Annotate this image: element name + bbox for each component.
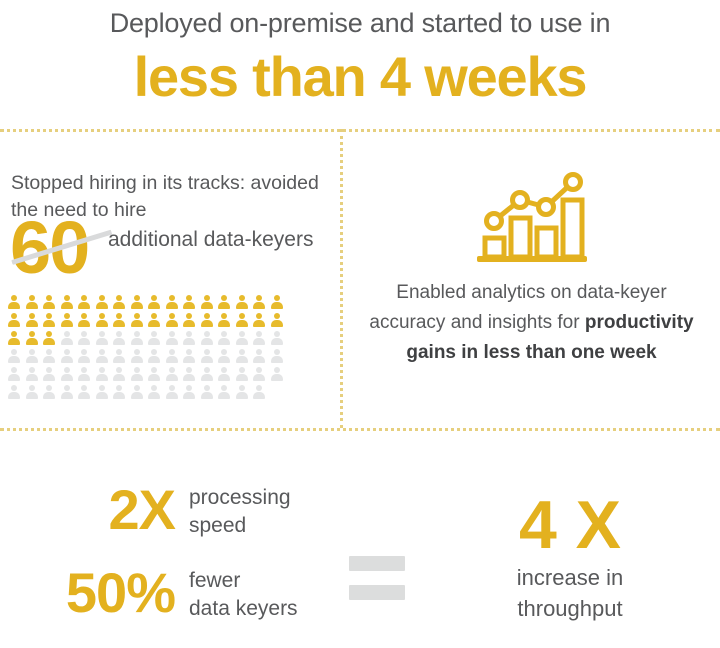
person-icon <box>7 312 21 328</box>
person-icon <box>182 312 196 328</box>
avoided-hires-block: 60 additional data-keyers <box>6 225 336 295</box>
panel-analytics: Enabled analytics on data-keyer accuracy… <box>343 132 720 428</box>
panel-hiring: Stopped hiring in its tracks: avoided th… <box>0 132 340 428</box>
person-icon <box>112 294 126 310</box>
mid-section: Stopped hiring in its tracks: avoided th… <box>0 132 720 428</box>
person-icon <box>7 384 21 400</box>
person-icon <box>7 294 21 310</box>
person-icon <box>235 384 249 400</box>
people-row <box>7 348 297 366</box>
person-icon <box>130 366 144 382</box>
divider-bottom <box>0 428 720 431</box>
person-icon <box>147 348 161 364</box>
person-icon <box>200 294 214 310</box>
person-icon <box>60 366 74 382</box>
person-icon <box>165 294 179 310</box>
person-icon <box>147 330 161 346</box>
person-icon <box>165 312 179 328</box>
person-icon <box>25 294 39 310</box>
stat-throughput-label: increase in throughput <box>440 562 700 624</box>
person-icon <box>182 366 196 382</box>
analytics-text-part2: accuracy and insights for <box>369 312 584 333</box>
person-icon <box>270 366 284 382</box>
person-icon <box>130 312 144 328</box>
person-icon <box>112 366 126 382</box>
person-icon <box>42 348 56 364</box>
person-icon <box>130 330 144 346</box>
stat-processing-speed-label: processing speed <box>175 482 291 540</box>
person-icon <box>25 330 39 346</box>
person-icon <box>95 348 109 364</box>
people-row <box>7 384 297 402</box>
person-icon <box>60 330 74 346</box>
person-icon <box>112 312 126 328</box>
person-icon <box>130 348 144 364</box>
person-icon <box>147 384 161 400</box>
person-icon <box>25 312 39 328</box>
equals-icon <box>349 556 405 600</box>
person-icon <box>95 384 109 400</box>
person-icon <box>217 330 231 346</box>
person-icon <box>77 312 91 328</box>
stat-fewer-data-keyers-label: fewer data keyers <box>175 565 298 623</box>
person-icon <box>7 366 21 382</box>
person-icon <box>112 348 126 364</box>
stat-throughput: 4 X increase in throughput <box>440 490 700 624</box>
person-icon <box>182 384 196 400</box>
person-icon <box>77 348 91 364</box>
person-icon <box>77 330 91 346</box>
person-icon <box>270 312 284 328</box>
person-icon <box>147 294 161 310</box>
person-icon <box>130 384 144 400</box>
stat-fewer-data-keyers-number: 50% <box>5 565 175 621</box>
stat-processing-speed-number: 2X <box>40 482 175 538</box>
person-icon <box>60 312 74 328</box>
person-icon <box>270 330 284 346</box>
person-icon <box>252 330 266 346</box>
person-icon <box>200 348 214 364</box>
equals-gap <box>349 571 405 585</box>
person-icon <box>42 384 56 400</box>
person-icon <box>182 294 196 310</box>
person-icon <box>217 384 231 400</box>
analytics-description: Enabled analytics on data-keyer accuracy… <box>367 278 697 368</box>
person-icon <box>270 294 284 310</box>
person-icon <box>217 348 231 364</box>
person-icon <box>112 384 126 400</box>
person-icon <box>42 294 56 310</box>
person-icon <box>112 330 126 346</box>
person-icon <box>25 348 39 364</box>
person-icon <box>235 348 249 364</box>
person-icon <box>77 294 91 310</box>
person-icon <box>77 384 91 400</box>
person-icon <box>42 330 56 346</box>
person-icon <box>165 348 179 364</box>
person-icon <box>165 330 179 346</box>
person-icon <box>252 294 266 310</box>
person-icon <box>147 312 161 328</box>
person-icon <box>130 294 144 310</box>
person-icon <box>217 312 231 328</box>
person-icon <box>235 294 249 310</box>
header-subtitle: Deployed on-premise and started to use i… <box>0 6 720 40</box>
equals-bar-bottom <box>349 585 405 600</box>
person-icon <box>95 366 109 382</box>
header: Deployed on-premise and started to use i… <box>0 0 720 110</box>
stat-processing-speed: 2X processing speed <box>40 482 340 540</box>
person-icon <box>77 366 91 382</box>
person-icon <box>7 348 21 364</box>
avoided-hires-label: additional data-keyers <box>108 225 313 255</box>
person-icon <box>95 330 109 346</box>
people-row <box>7 294 297 312</box>
person-icon <box>217 294 231 310</box>
people-row <box>7 312 297 330</box>
person-icon <box>252 366 266 382</box>
person-icon <box>235 366 249 382</box>
equals-bar-top <box>349 556 405 571</box>
person-icon <box>165 366 179 382</box>
person-icon <box>42 366 56 382</box>
person-icon <box>95 294 109 310</box>
person-icon <box>42 312 56 328</box>
person-icon <box>60 294 74 310</box>
person-icon <box>165 384 179 400</box>
person-icon <box>252 312 266 328</box>
person-icon <box>95 312 109 328</box>
person-icon <box>60 348 74 364</box>
person-icon <box>200 330 214 346</box>
header-headline: less than 4 weeks <box>0 44 720 110</box>
person-icon <box>252 384 266 400</box>
stat-fewer-data-keyers: 50% fewer data keyers <box>5 565 335 623</box>
person-icon <box>200 384 214 400</box>
person-icon <box>182 330 196 346</box>
person-icon <box>200 366 214 382</box>
people-row <box>7 330 297 348</box>
people-pictogram-grid <box>7 294 297 402</box>
person-icon <box>235 330 249 346</box>
bar-chart-line-icon <box>343 168 720 268</box>
person-icon <box>217 366 231 382</box>
stat-throughput-number: 4 X <box>440 490 700 560</box>
person-icon <box>200 312 214 328</box>
person-icon <box>270 348 284 364</box>
person-icon <box>60 384 74 400</box>
person-icon <box>252 348 266 364</box>
person-icon <box>25 384 39 400</box>
person-icon <box>182 348 196 364</box>
person-icon <box>7 330 21 346</box>
person-icon <box>235 312 249 328</box>
person-icon <box>25 366 39 382</box>
people-row <box>7 366 297 384</box>
analytics-text-part1: Enabled analytics on data-keyer <box>396 282 666 303</box>
person-icon <box>147 366 161 382</box>
